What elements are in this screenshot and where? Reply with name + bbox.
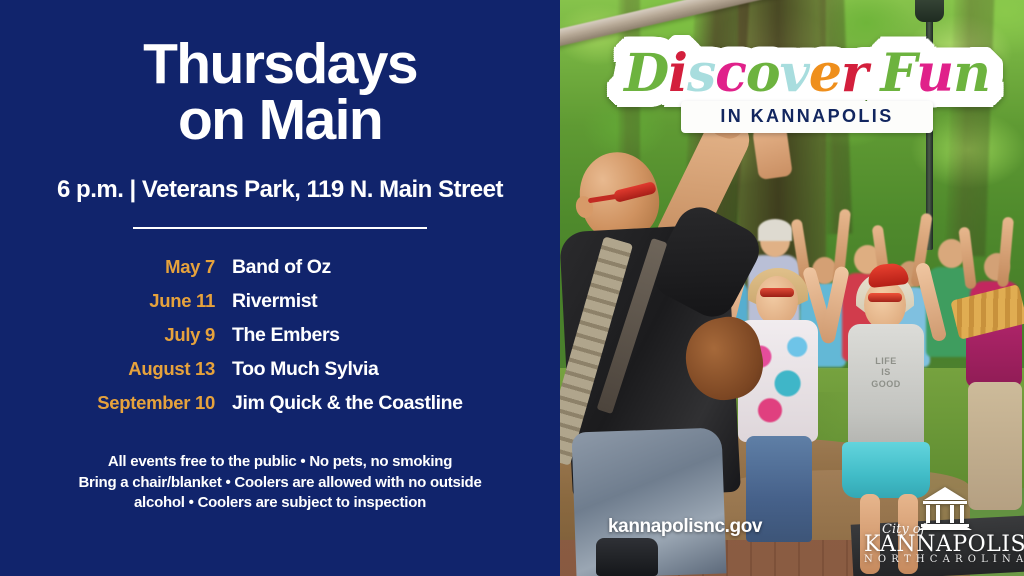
logo-letter-v: v	[780, 48, 809, 100]
schedule-date: May 7	[0, 256, 215, 278]
logo-letter-o: o	[746, 48, 780, 100]
logo-letter-c: c	[715, 48, 746, 100]
city-tagline-text: N O R T H C A R O L I N A	[864, 554, 1024, 565]
crowd-hair	[758, 219, 792, 241]
schedule-date: July 9	[0, 324, 215, 346]
schedule-band: Too Much Sylvia	[232, 358, 378, 381]
dancer-head	[756, 276, 798, 326]
list-item: May 7 Band of Oz	[0, 256, 560, 290]
logo-letter-F: F	[880, 48, 916, 100]
sunglasses-icon	[760, 288, 794, 297]
logo-letter-s: s	[687, 48, 715, 100]
schedule-date: June 11	[0, 290, 215, 312]
fine-print: All events free to the public • No pets,…	[30, 452, 530, 514]
logo-letter-e: e	[809, 48, 841, 100]
fine-print-line: All events free to the public • No pets,…	[30, 452, 530, 473]
list-item: June 11 Rivermist	[0, 290, 560, 324]
sunglasses-icon	[868, 293, 902, 302]
schedule-band: Rivermist	[232, 290, 317, 313]
logo-letter-r: r	[841, 48, 867, 100]
logo-letter-u: u	[916, 48, 953, 100]
concert-photo: LIFEISGOOD Discover Fun IN KANNAPOLIS ka…	[560, 0, 1024, 576]
event-subtitle: 6 p.m. | Veterans Park, 119 N. Main Stre…	[0, 176, 560, 204]
schedule-date: September 10	[0, 392, 215, 414]
website-url[interactable]: kannapolisnc.gov	[608, 516, 762, 538]
schedule-list: May 7 Band of Oz June 11 Rivermist July …	[0, 256, 560, 426]
dancer2-head	[864, 280, 906, 330]
page-title: Thursdays on Main	[0, 36, 560, 149]
list-item: September 10 Jim Quick & the Coastline	[0, 392, 560, 426]
title-line-2: on Main	[0, 92, 560, 148]
list-item: August 13 Too Much Sylvia	[0, 358, 560, 392]
title-line-1: Thursdays	[0, 36, 560, 92]
tshirt-slogan: LIFEISGOOD	[856, 356, 916, 390]
logo-letter-i: i	[668, 48, 687, 100]
schedule-date: August 13	[0, 358, 215, 380]
city-of-kannapolis-logo: City of KANNAPOLIS N O R T H C A R O L I…	[864, 486, 1024, 572]
raised-arm	[997, 217, 1014, 288]
info-panel: Thursdays on Main 6 p.m. | Veterans Park…	[0, 0, 560, 576]
lamp-head	[915, 0, 944, 22]
fine-print-line: Bring a chair/blanket • Coolers are allo…	[30, 473, 530, 494]
schedule-band: Band of Oz	[232, 256, 331, 279]
performer-boot	[596, 538, 658, 576]
divider-rule	[133, 227, 427, 229]
list-item: July 9 The Embers	[0, 324, 560, 358]
discover-fun-wordmark: Discover Fun	[612, 48, 1002, 100]
logo-subtitle-band: IN KANNAPOLIS	[681, 101, 933, 133]
fine-print-line: alcohol • Coolers are subject to inspect…	[30, 493, 530, 514]
logo-word-space	[867, 48, 880, 100]
discover-fun-logo: Discover Fun IN KANNAPOLIS	[612, 48, 1002, 133]
event-poster: Thursdays on Main 6 p.m. | Veterans Park…	[0, 0, 1024, 576]
schedule-band: The Embers	[232, 324, 340, 347]
schedule-band: Jim Quick & the Coastline	[232, 392, 463, 415]
logo-subtitle: IN KANNAPOLIS	[681, 106, 933, 127]
logo-letter-n: n	[953, 48, 990, 100]
logo-letter-D: D	[624, 48, 668, 100]
